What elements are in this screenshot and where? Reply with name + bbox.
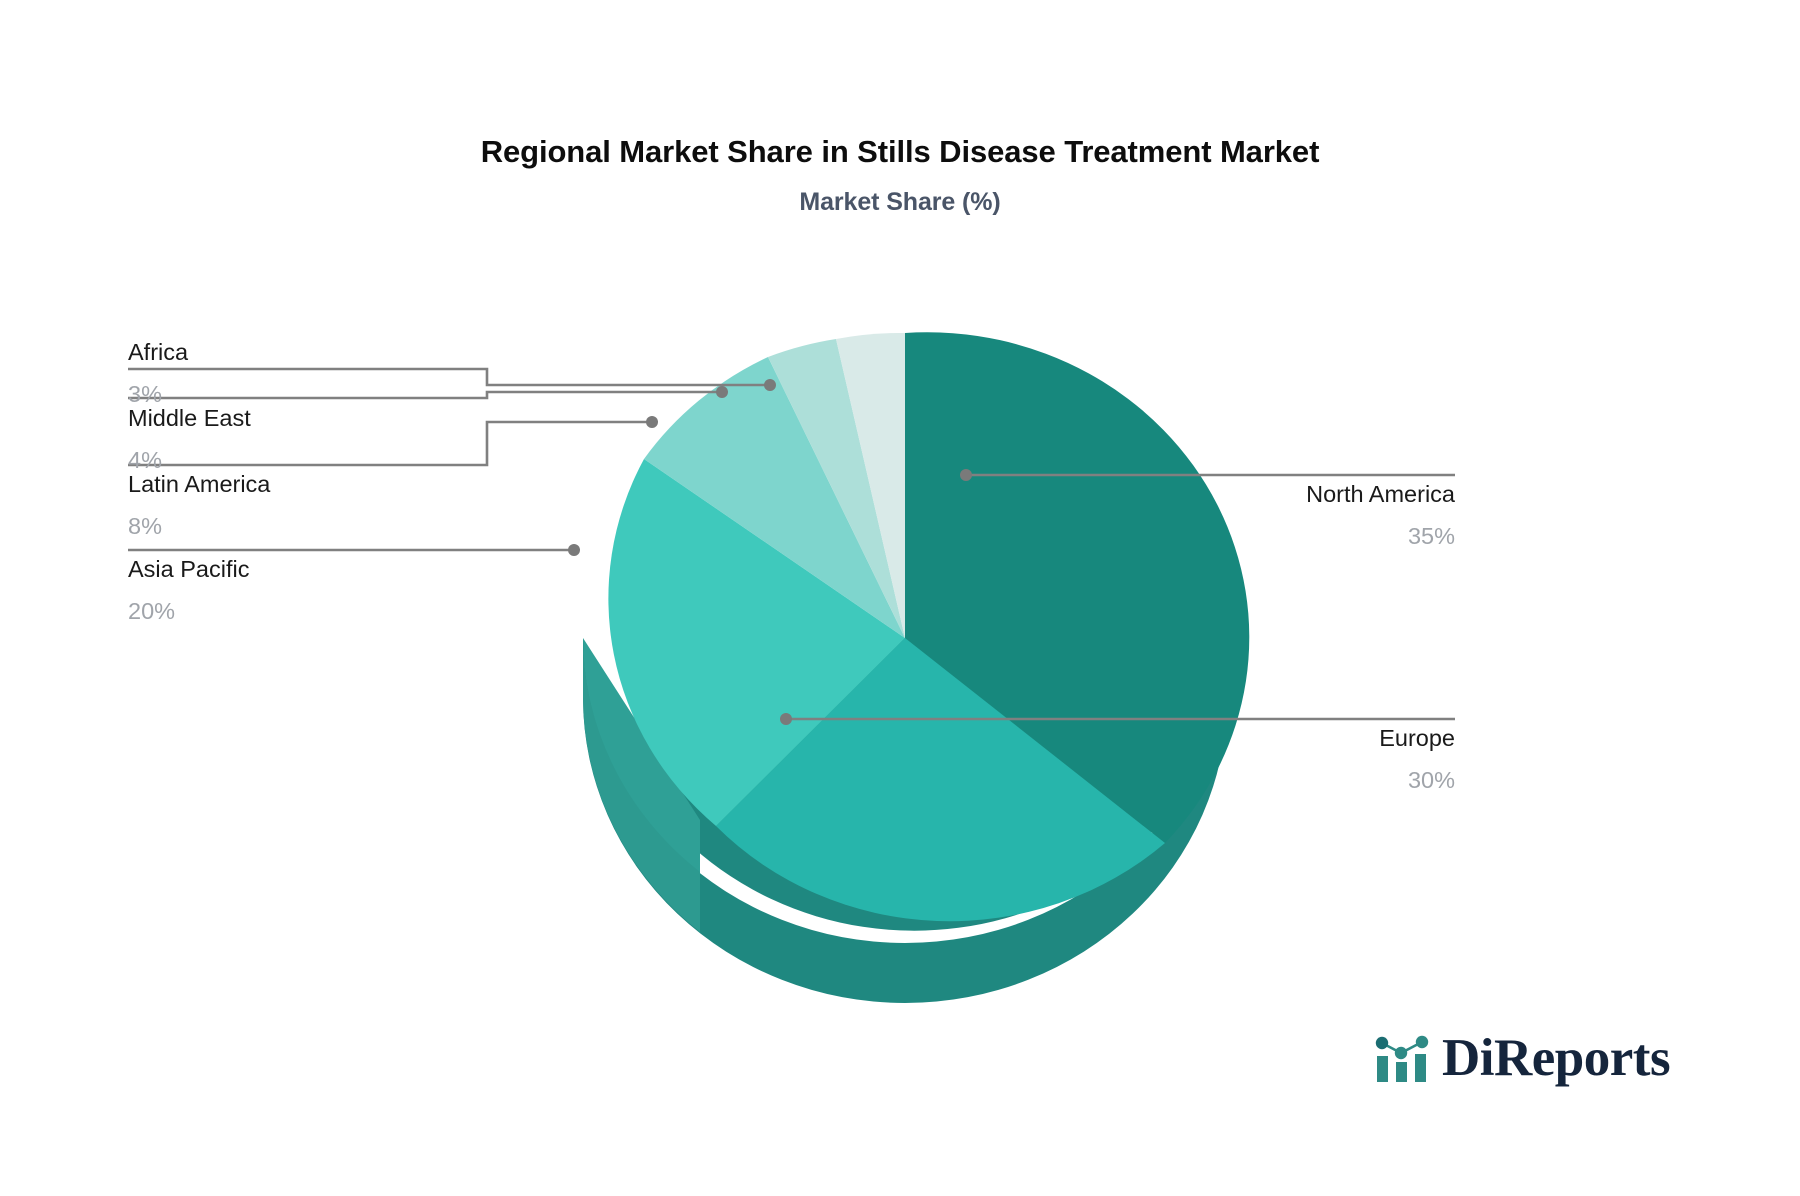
callout-middle-east-value-wrap[interactable]: 4% bbox=[128, 442, 162, 473]
leader-dot-africa bbox=[764, 379, 776, 391]
callout-north-america-value-wrap[interactable]: 35% bbox=[1155, 518, 1455, 549]
callout-europe[interactable]: Europe bbox=[1155, 727, 1455, 758]
leader-line-middle-east bbox=[128, 392, 722, 398]
callout-north-america[interactable]: North America bbox=[1155, 483, 1455, 514]
callout-north-america-label: North America bbox=[1155, 483, 1455, 514]
chart-canvas: Regional Market Share in Stills Disease … bbox=[0, 0, 1800, 1196]
leader-dot-europe bbox=[780, 713, 792, 725]
callout-latin-america-value: 8% bbox=[128, 508, 162, 539]
callout-asia-pacific-label: Asia Pacific bbox=[128, 558, 249, 589]
callout-europe-value-wrap[interactable]: 30% bbox=[1155, 762, 1455, 793]
leader-line-africa bbox=[128, 369, 770, 385]
callout-africa[interactable]: Africa bbox=[128, 341, 188, 372]
leader-dot-asia-pacific bbox=[568, 544, 580, 556]
callout-middle-east[interactable]: Middle East bbox=[128, 407, 251, 438]
pie-chart-graphic bbox=[0, 0, 1800, 1196]
callout-africa-label: Africa bbox=[128, 341, 188, 372]
brand-logo[interactable]: DiReports bbox=[1374, 1032, 1670, 1085]
callout-north-america-value: 35% bbox=[1155, 518, 1455, 549]
callout-asia-pacific-value-wrap[interactable]: 20% bbox=[128, 593, 175, 624]
callout-africa-value: 3% bbox=[128, 376, 162, 407]
callout-latin-america-value-wrap[interactable]: 8% bbox=[128, 508, 162, 539]
callout-latin-america-label: Latin America bbox=[128, 473, 270, 504]
callout-latin-america[interactable]: Latin America bbox=[128, 473, 270, 504]
callout-europe-label: Europe bbox=[1155, 727, 1455, 758]
leader-dot-middle-east bbox=[716, 386, 728, 398]
callout-asia-pacific[interactable]: Asia Pacific bbox=[128, 558, 249, 589]
callout-middle-east-value: 4% bbox=[128, 442, 162, 473]
callout-middle-east-label: Middle East bbox=[128, 407, 251, 438]
callout-africa-value-wrap[interactable]: 3% bbox=[128, 376, 162, 407]
leader-dot-latin-america bbox=[646, 416, 658, 428]
leader-dot-north-america bbox=[960, 469, 972, 481]
callout-asia-pacific-value: 20% bbox=[128, 593, 175, 624]
bar-chart-dots-icon bbox=[1374, 1034, 1432, 1084]
callout-europe-value: 30% bbox=[1155, 762, 1455, 793]
brand-wordmark: DiReports bbox=[1442, 1032, 1670, 1085]
